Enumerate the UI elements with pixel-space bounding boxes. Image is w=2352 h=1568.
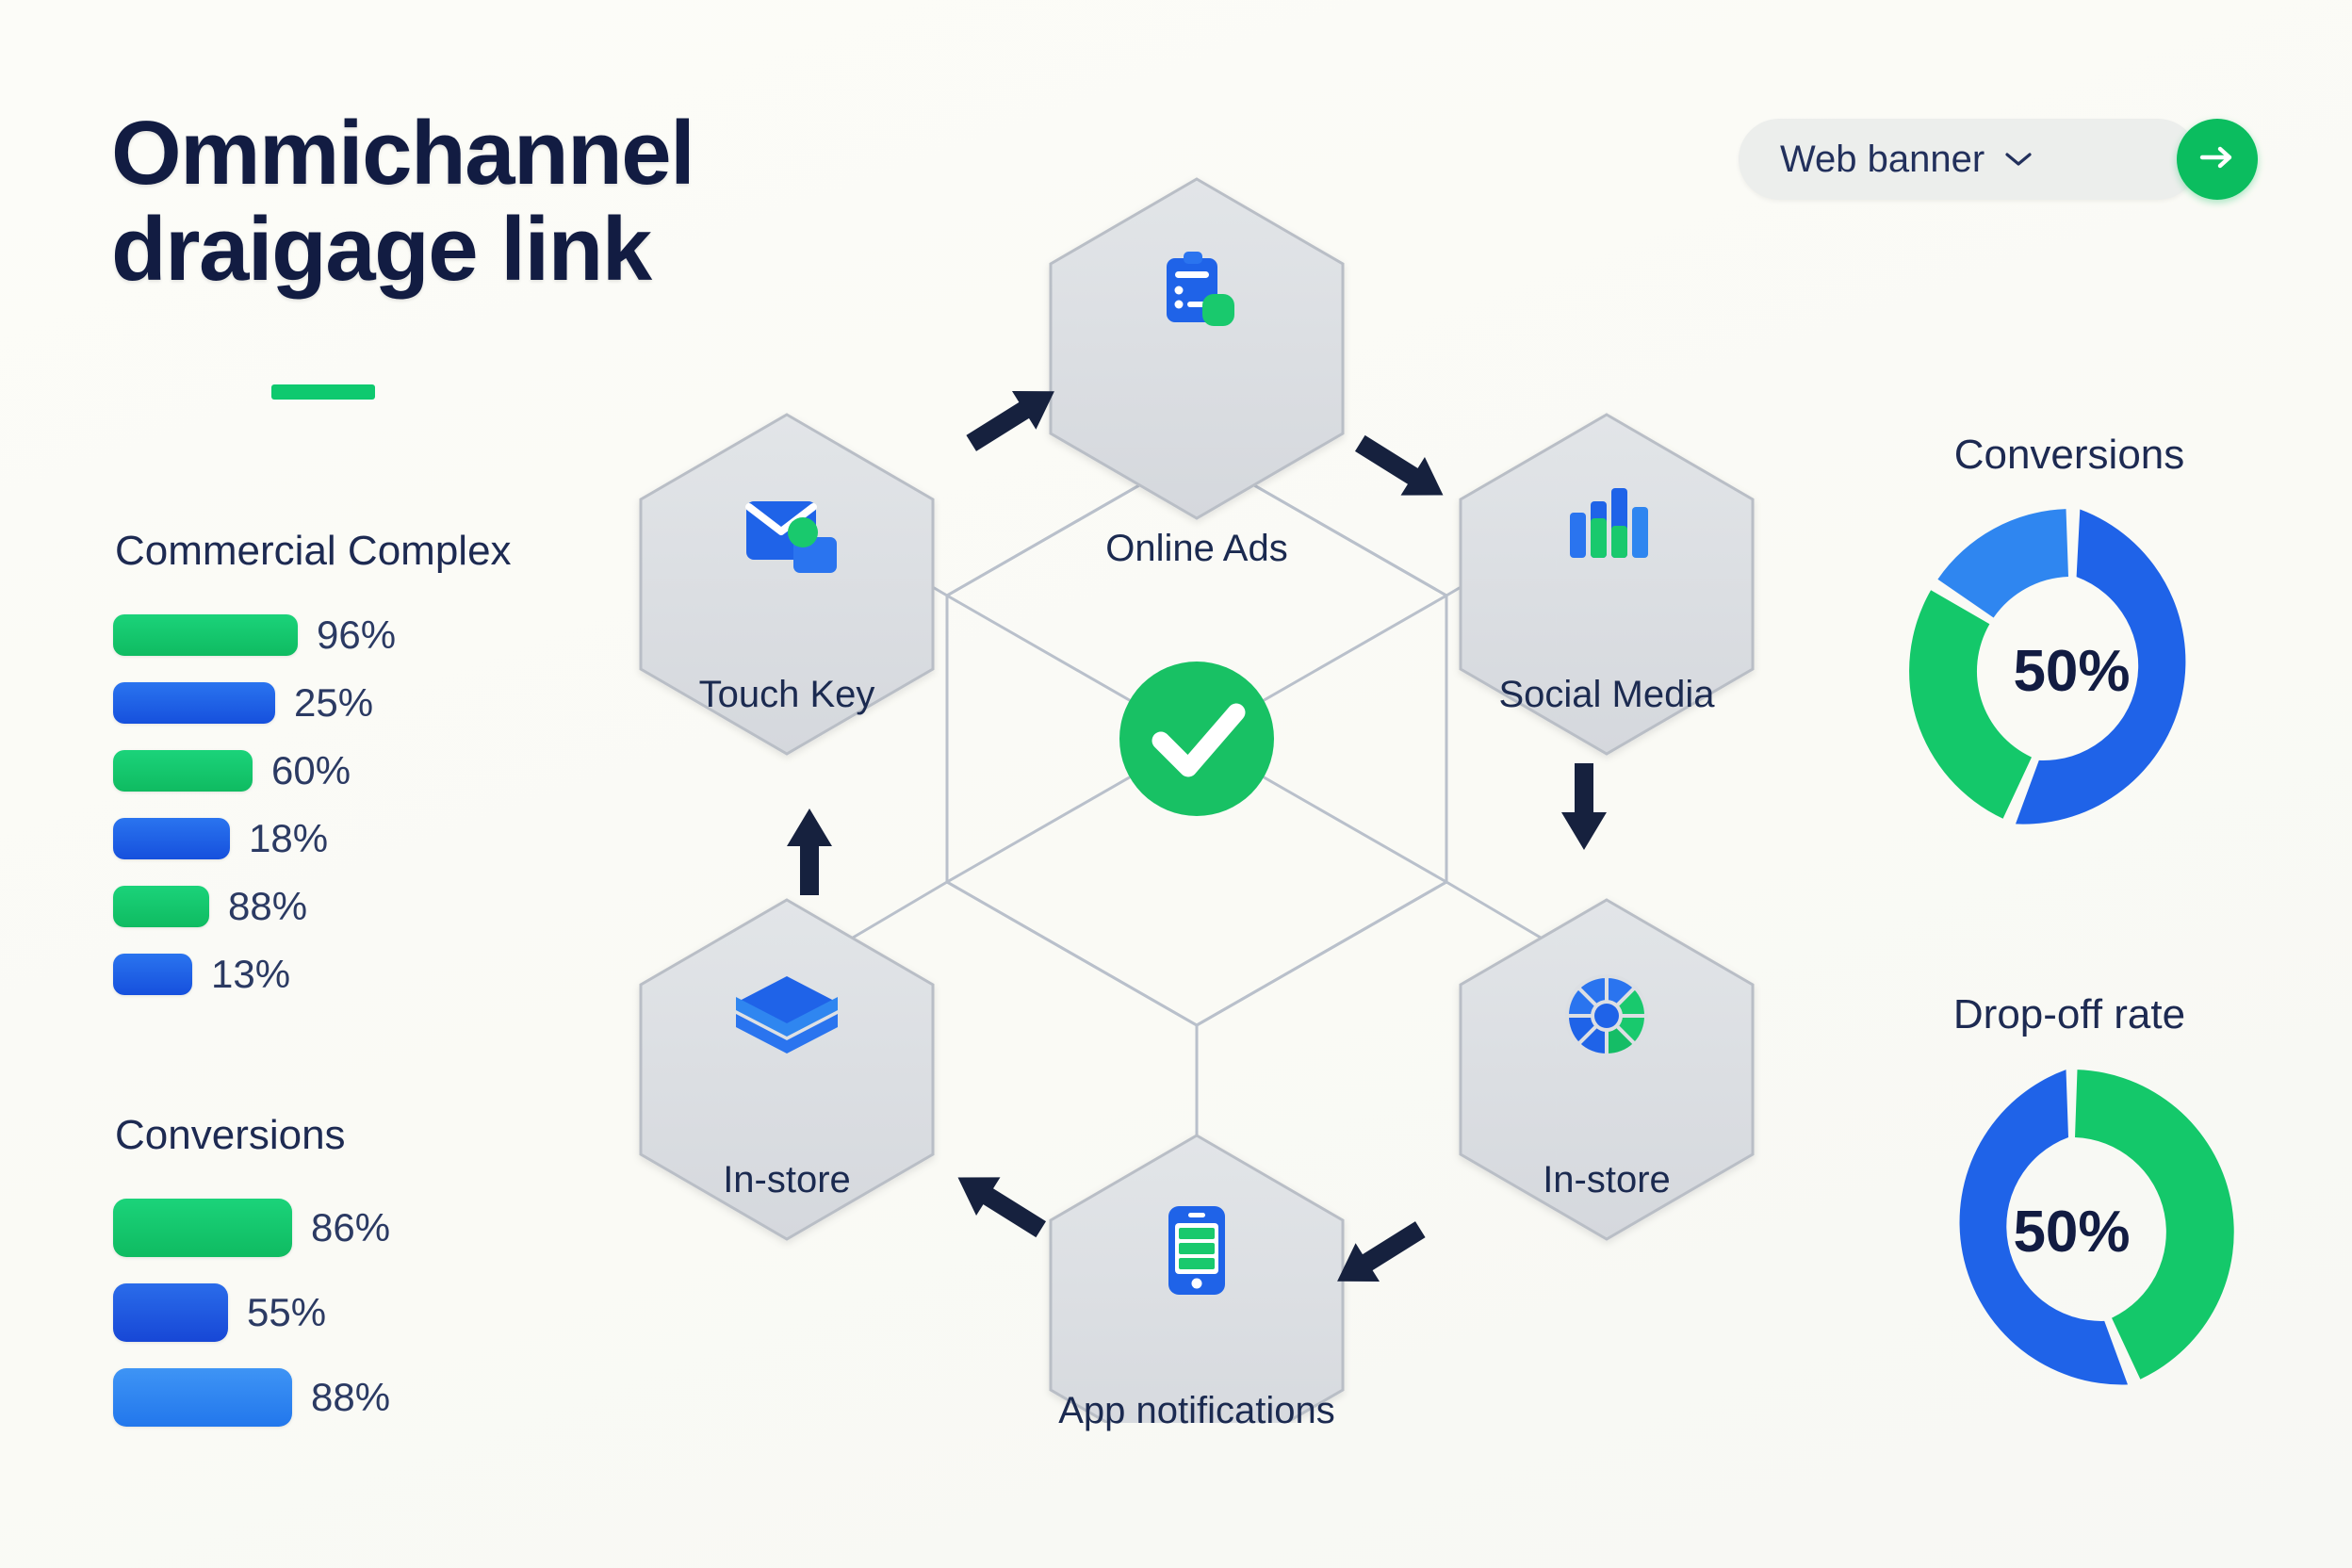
- bar-value: 88%: [311, 1375, 390, 1420]
- donut-chart-conversions[interactable]: 50%: [1909, 509, 2234, 834]
- arrow-up-icon: [787, 808, 832, 895]
- panel-title-commercial-complex: Commercial Complex: [115, 528, 512, 575]
- pie-segments-icon: [1567, 976, 1646, 1055]
- donut-center-label: 50%: [1909, 509, 2234, 834]
- bar-value: 60%: [271, 748, 351, 793]
- check-circle-icon: [1119, 661, 1274, 816]
- bar-fill: [113, 1199, 292, 1257]
- hex-label-in-store-left: In-store: [723, 1159, 851, 1201]
- panel-title-conversions: Conversions: [115, 1112, 346, 1159]
- bar-fill: [113, 886, 209, 927]
- bar-value: 13%: [211, 952, 290, 997]
- bar-row: 13%: [113, 952, 290, 997]
- bar-value: 88%: [228, 884, 307, 929]
- go-next-button[interactable]: [2177, 119, 2258, 200]
- bar-row: 88%: [113, 1368, 390, 1427]
- bar-fill: [113, 818, 230, 859]
- hex-label-app-notifications: App notifications: [1058, 1390, 1335, 1432]
- arrow-right-icon: [2197, 142, 2238, 177]
- mobile-phone-icon: [1168, 1206, 1225, 1295]
- dropdown-label: Web banner: [1780, 139, 1984, 181]
- donut-title-drop-off-rate: Drop-off rate: [1953, 991, 2185, 1038]
- bar-row: 86%: [113, 1199, 390, 1257]
- bar-fill: [113, 614, 298, 656]
- bar-row: 88%: [113, 884, 307, 929]
- title-accent-underline: [271, 384, 375, 400]
- bar-value: 55%: [247, 1290, 326, 1335]
- hex-node-online-ads[interactable]: [1051, 179, 1343, 518]
- bar-row: 96%: [113, 612, 396, 658]
- bar-value: 86%: [311, 1205, 390, 1250]
- bar-value: 96%: [317, 612, 396, 658]
- bar-value: 25%: [294, 680, 373, 726]
- hex-label-in-store-right: In-store: [1543, 1159, 1671, 1201]
- bar-fill: [113, 1368, 292, 1427]
- bar-row: 25%: [113, 680, 373, 726]
- bar-row: 18%: [113, 816, 328, 861]
- chevron-down-icon: [2005, 152, 2032, 167]
- donut-chart-drop-off-rate[interactable]: 50%: [1909, 1070, 2234, 1395]
- donut-center-label: 50%: [1909, 1070, 2234, 1395]
- bar-row: 55%: [113, 1283, 326, 1342]
- hex-label-touch-key: Touch Key: [699, 674, 875, 716]
- bar-fill: [113, 682, 275, 724]
- hex-label-online-ads: Online Ads: [1105, 528, 1287, 570]
- bar-fill: [113, 750, 253, 792]
- bar-row: 60%: [113, 748, 351, 793]
- arrow-down-icon: [1561, 763, 1607, 850]
- arrow-left-icon: [946, 1158, 1053, 1249]
- bar-value: 18%: [249, 816, 328, 861]
- hex-label-social-media: Social Media: [1498, 674, 1714, 716]
- arrow-down-right-icon: [1348, 424, 1456, 514]
- bar-fill: [113, 1283, 228, 1342]
- omnichannel-hex-network: Online Ads Social Media In-store App not…: [584, 141, 1809, 1428]
- bar-fill: [113, 954, 192, 995]
- donut-title-conversions: Conversions: [1954, 432, 2185, 479]
